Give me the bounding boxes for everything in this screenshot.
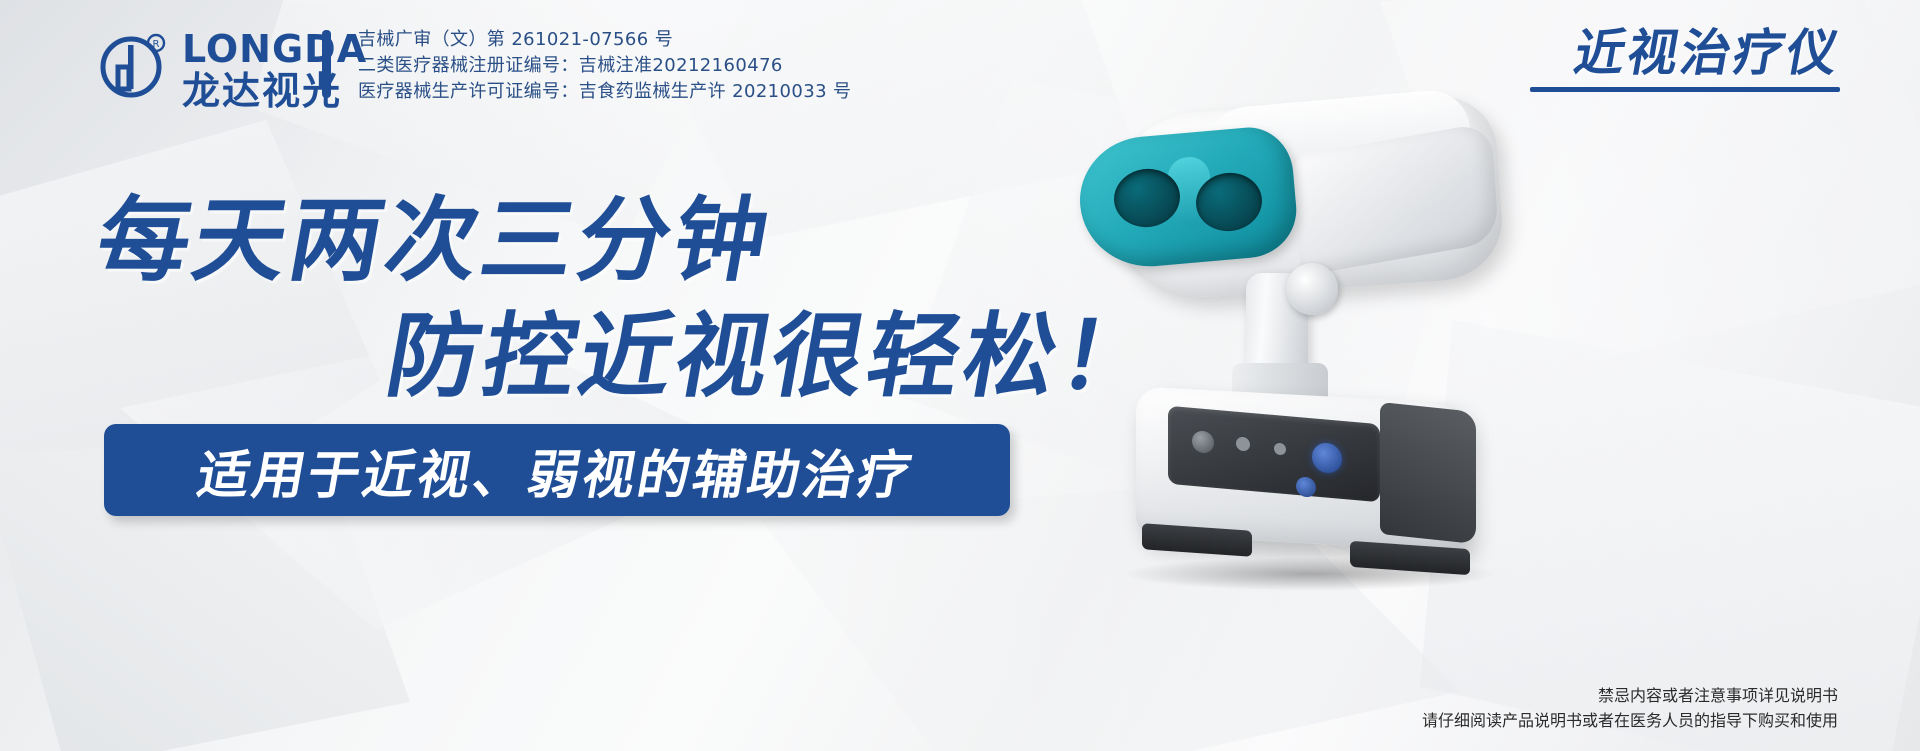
registration-line-production-license: 医疗器械生产许可证编号：吉食药监械生产许 20210033 号 — [358, 79, 851, 105]
indication-banner: 适用于近视、弱视的辅助治疗 — [104, 424, 1010, 516]
product-title-block: 近视治疗仪 — [1530, 26, 1840, 92]
page-title: 近视治疗仪 — [1525, 26, 1845, 81]
device-hinge-joint — [1286, 263, 1338, 315]
device-panel-button — [1236, 436, 1250, 451]
device-base-side-panel — [1380, 402, 1476, 544]
device-panel-button — [1274, 442, 1286, 455]
headline-primary: 每天两次三分钟 — [88, 166, 783, 299]
longda-circle-logo-icon: R — [98, 29, 170, 101]
legal-disclaimer: 禁忌内容或者注意事项详见说明书 请仔细阅读产品说明书或者在医务人员的指导下购买和… — [1422, 683, 1838, 733]
product-image-myopia-treatment-device — [1050, 95, 1570, 575]
registration-line-ad-approval: 吉械广审（文）第 261021-07566 号 — [358, 27, 851, 53]
disclaimer-line-1: 禁忌内容或者注意事项详见说明书 — [1422, 683, 1838, 708]
indication-text: 适用于近视、弱视的辅助治疗 — [193, 433, 921, 508]
title-underline — [1530, 87, 1840, 92]
brand-wordmark: LONGDA 龙达视光 — [182, 30, 367, 110]
header-divider — [322, 30, 331, 98]
registration-info: 吉械广审（文）第 261021-07566 号 二类医疗器械注册证编号：吉械注准… — [358, 27, 851, 105]
disclaimer-line-2: 请仔细阅读产品说明书或者在医务人员的指导下购买和使用 — [1422, 708, 1838, 733]
brand-latin-name: LONGDA — [182, 30, 367, 68]
advertisement-banner: R LONGDA 龙达视光 吉械广审（文）第 261021-07566 号 二类… — [0, 0, 1920, 751]
svg-text:R: R — [153, 39, 160, 50]
brand-logo: R LONGDA 龙达视光 — [98, 24, 328, 104]
brand-chinese-name: 龙达视光 — [182, 72, 367, 110]
registration-line-device-cert: 二类医疗器械注册证编号：吉械注准20212160476 — [358, 53, 851, 79]
